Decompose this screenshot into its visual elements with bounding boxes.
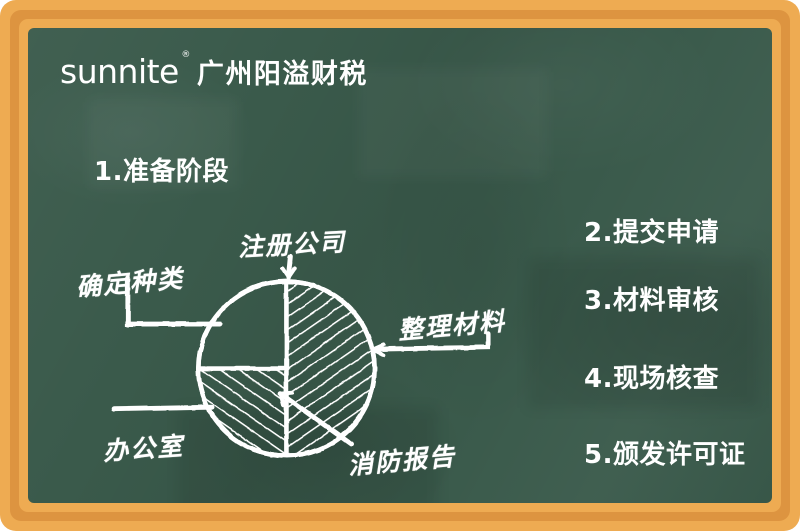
poster-frame-inner: sunnite ® 广州阳溢财税 1.准备阶段 2.提交申请 3.材料审核 4.… <box>19 19 781 512</box>
diagram-label-xiaofang-baogao: 消防报告 <box>346 437 457 482</box>
brand-logo: sunnite ® 广州阳溢财税 <box>60 55 368 88</box>
pie-chart-drawing <box>198 281 374 455</box>
pie-outline <box>198 281 374 455</box>
diagram-label-queding-zhonglei: 确定种类 <box>74 259 185 304</box>
step-item-2: 2.提交申请 <box>584 212 719 249</box>
step-item-3: 3.材料审核 <box>584 280 719 317</box>
connector-bangongshi <box>114 407 212 409</box>
pie-slice-zhengli-cailiao <box>286 281 374 455</box>
step-item-4: 4.现场核查 <box>584 358 719 395</box>
poster-frame-outer: sunnite ® 广州阳溢财税 1.准备阶段 2.提交申请 3.材料审核 4.… <box>0 0 800 531</box>
arrowhead-zhengli-cailiao <box>373 344 384 355</box>
logo-wordmark-text: sunnite <box>60 52 179 91</box>
arrowhead-zhuce-gongsi <box>283 269 295 278</box>
registered-trademark-icon: ® <box>181 51 190 60</box>
diagram-label-zhengli-cailiao: 整理材料 <box>396 302 507 347</box>
step-item-1: 1.准备阶段 <box>94 151 229 188</box>
arrowhead-xiaofang-baogao <box>281 393 293 406</box>
poster-frame-middle: sunnite ® 广州阳溢财税 1.准备阶段 2.提交申请 3.材料审核 4.… <box>10 10 790 521</box>
logo-wordmark: sunnite ® <box>60 55 179 88</box>
step-item-5: 5.颁发许可证 <box>584 434 745 471</box>
company-name-cn: 广州阳溢财税 <box>187 61 368 88</box>
connector-xiaofang-baogao <box>281 394 351 444</box>
diagram-label-bangongshi: 办公室 <box>102 426 185 468</box>
pie-slice-queding-zhonglei <box>198 281 286 368</box>
diagram-label-zhuce-gongsi: 注册公司 <box>237 222 347 264</box>
chalk-smudge-2 <box>358 68 548 178</box>
pie-slice-bangongshi <box>198 369 286 456</box>
chalkboard: sunnite ® 广州阳溢财税 1.准备阶段 2.提交申请 3.材料审核 4.… <box>28 28 772 503</box>
